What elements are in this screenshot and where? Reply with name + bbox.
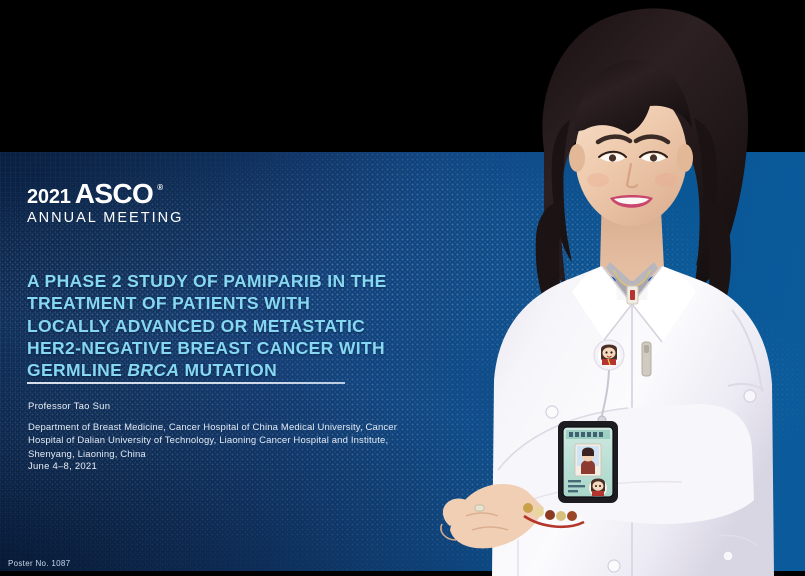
poster-title-line-3: LOCALLY ADVANCED OR METASTATIC [27, 316, 365, 336]
poster-title-line-1: A PHASE 2 STUDY OF PAMIPARIB IN THE [27, 271, 387, 291]
poster-title: A PHASE 2 STUDY OF PAMIPARIB IN THE TREA… [27, 270, 427, 382]
slide-canvas: 2021 ASCO ® ANNUAL MEETING A PHASE 2 STU… [0, 0, 805, 576]
poster-title-gene-name: BRCA [127, 360, 179, 380]
asco-logo-wordmark: ASCO [75, 180, 154, 208]
asco-logo: 2021 ASCO ® ANNUAL MEETING [27, 180, 183, 226]
presenter-name: Professor Tao Sun [28, 401, 110, 412]
poster-title-line-2: TREATMENT OF PATIENTS WITH [27, 293, 310, 313]
poster-title-line-4: HER2-NEGATIVE BREAST CANCER WITH [27, 338, 385, 358]
title-divider-rule [27, 382, 345, 384]
asco-logo-subtitle: ANNUAL MEETING [27, 211, 183, 226]
asco-logo-primary-row: 2021 ASCO ® [27, 180, 183, 208]
asco-logo-year: 2021 [27, 187, 71, 207]
presenter-affiliation: Department of Breast Medicine, Cancer Ho… [28, 421, 430, 461]
poster-title-line-5-prefix: GERMLINE [27, 360, 127, 380]
meeting-date: June 4–8, 2021 [28, 461, 97, 472]
registered-trademark-icon: ® [157, 184, 163, 192]
poster-number: Poster No. 1087 [8, 559, 70, 568]
poster-title-line-5-suffix: MUTATION [179, 360, 277, 380]
